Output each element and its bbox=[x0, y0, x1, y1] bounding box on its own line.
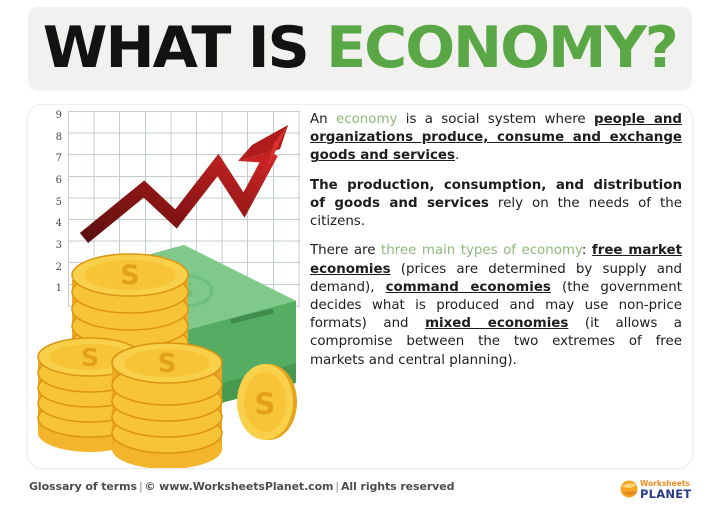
money-and-coins-icon: S S bbox=[34, 235, 306, 468]
svg-text:S: S bbox=[120, 260, 139, 291]
p3-command: command economies bbox=[386, 280, 551, 295]
footer-copyright[interactable]: © www.WorksheetsPlanet.com bbox=[145, 480, 334, 493]
p1-economy-highlight: economy bbox=[336, 112, 397, 127]
page-footer: Glossary of terms|© www.WorksheetsPlanet… bbox=[0, 474, 720, 509]
p1-s1: An bbox=[310, 112, 336, 127]
footer-separator: | bbox=[333, 480, 341, 493]
p3-s3: : bbox=[582, 243, 592, 258]
y-axis-tick: 4 bbox=[46, 218, 62, 229]
y-axis-tick: 7 bbox=[46, 153, 62, 164]
svg-text:S: S bbox=[158, 349, 177, 379]
standing-coin: S bbox=[237, 364, 297, 440]
logo-word-planet: PLANET bbox=[640, 487, 691, 501]
worksheets-planet-logo[interactable]: Worksheets PLANET bbox=[619, 475, 695, 503]
illustration-area: 9 8 7 6 5 4 3 2 1 bbox=[28, 105, 306, 468]
page-title-bar: WHAT IS ECONOMY? bbox=[28, 7, 692, 90]
paragraph-2: The production, consumption, and distrib… bbox=[310, 177, 682, 232]
planet-circle-icon bbox=[621, 481, 638, 498]
p1-s3: is a social system where bbox=[397, 112, 594, 127]
p3-types-highlight: three main types of economy bbox=[381, 243, 582, 258]
p3-mixed: mixed economies bbox=[425, 316, 568, 331]
y-axis-tick: 5 bbox=[46, 197, 62, 208]
page-title-part2: ECONOMY? bbox=[326, 15, 677, 81]
y-axis-tick: 8 bbox=[46, 132, 62, 143]
paragraph-3: There are three main types of economy: f… bbox=[310, 242, 682, 370]
paragraph-1: An economy is a social system where peop… bbox=[310, 111, 682, 166]
p1-s5: . bbox=[455, 148, 459, 163]
content-panel: 9 8 7 6 5 4 3 2 1 bbox=[28, 105, 692, 468]
y-axis-tick: 9 bbox=[46, 110, 62, 121]
page-title: WHAT IS ECONOMY? bbox=[43, 20, 677, 77]
p3-s1: There are bbox=[310, 243, 381, 258]
coin-stack-front: S bbox=[112, 343, 222, 468]
y-axis-tick: 6 bbox=[46, 175, 62, 186]
footer-glossary: Glossary of terms bbox=[29, 480, 137, 493]
footer-separator: | bbox=[137, 480, 145, 493]
svg-text:S: S bbox=[81, 343, 99, 372]
article-text: An economy is a social system where peop… bbox=[310, 111, 682, 462]
svg-text:S: S bbox=[255, 387, 276, 421]
footer-rights: All rights reserved bbox=[341, 480, 454, 493]
footer-credits: Glossary of terms|© www.WorksheetsPlanet… bbox=[29, 480, 454, 493]
page-title-part1: WHAT IS bbox=[43, 15, 326, 81]
